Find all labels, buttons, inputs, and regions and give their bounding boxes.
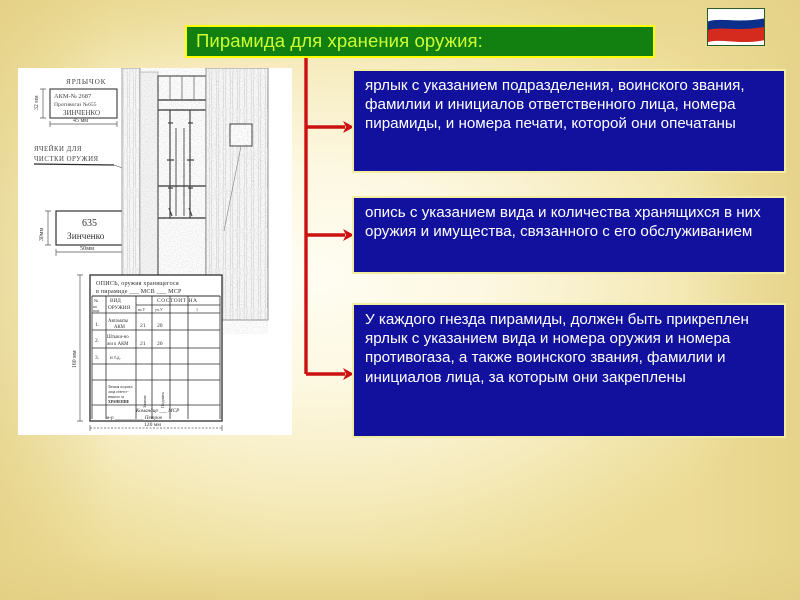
svg-text:венного за: венного за [108, 395, 124, 399]
svg-text:Зинченко: Зинченко [67, 232, 105, 242]
svg-text:160 мм: 160 мм [72, 350, 78, 368]
svg-text:21: 21 [140, 341, 146, 347]
svg-text:Командир ___ МСР: Командир ___ МСР [135, 407, 180, 414]
svg-text:лица ответст-: лица ответст- [108, 390, 130, 394]
svg-text:ОРУЖИЯ: ОРУЖИЯ [108, 305, 131, 311]
svg-text:уч.У: уч.У [155, 307, 163, 312]
svg-text:ЯРЛЫЧОК: ЯРЛЫЧОК [66, 78, 106, 86]
callout-nest-label-info: У каждого гнезда пирамиды, должен быть п… [352, 303, 786, 438]
svg-text:45 мм: 45 мм [73, 118, 88, 124]
svg-text:Звание: Звание [142, 395, 147, 408]
svg-text:ЯЧЕЙКИ ДЛЯ: ЯЧЕЙКИ ДЛЯ [34, 145, 82, 153]
svg-text:21: 21 [140, 323, 146, 329]
svg-text:3.: 3. [95, 355, 99, 361]
svg-text:пор.: пор. [93, 308, 100, 313]
svg-text:ЗИНЧЕНКО: ЗИНЧЕНКО [63, 109, 100, 117]
weapon-rack-diagram: ЯРЛЫЧОК АКМ-№ 2687 Противогаз №655 ЗИНЧЕ… [18, 68, 292, 435]
page-title-text: Пирамида для хранения оружия: [196, 32, 483, 51]
callout-3-text: У каждого гнезда пирамиды, должен быть п… [365, 310, 775, 387]
callout-inventory-info: опись с указанием вида и количества хран… [352, 196, 786, 274]
svg-text:20: 20 [157, 323, 163, 329]
callout-2-text: опись с указанием вида и количества хран… [365, 203, 775, 241]
svg-text:635: 635 [82, 218, 97, 229]
svg-text:30мм: 30мм [39, 228, 45, 241]
svg-text:ВИД: ВИД [110, 298, 121, 304]
svg-text:Противогаз №655: Противогаз №655 [54, 102, 97, 108]
svg-text:1.: 1. [95, 322, 99, 328]
svg-text:ХРАНЕНИЕ: ХРАНЕНИЕ [108, 400, 130, 404]
svg-text:Автоматы: Автоматы [108, 319, 129, 324]
svg-text:ЧИСТКИ ОРУЖИЯ: ЧИСТКИ ОРУЖИЯ [34, 156, 99, 163]
svg-text:50мм: 50мм [80, 245, 94, 252]
svg-text:м-р ___________ Петров: м-р ___________ Петров [105, 415, 163, 421]
svg-text:32 мм: 32 мм [34, 95, 40, 110]
svg-text:вз.У: вз.У [138, 307, 145, 312]
svg-text:1: 1 [196, 307, 198, 312]
slide-canvas: Пирамида для хранения оружия: [0, 0, 800, 600]
svg-text:2.: 2. [95, 338, 99, 344]
svg-text:120 мм: 120 мм [144, 422, 161, 428]
page-title: Пирамида для хранения оружия: [185, 25, 655, 58]
svg-text:Штыки-но: Штыки-но [107, 335, 129, 340]
svg-text:20: 20 [157, 341, 163, 347]
callout-1-text: ярлык с указанием подразделения, воинско… [365, 76, 775, 134]
svg-text:АКМ: АКМ [114, 325, 126, 330]
svg-text:Личная подпись: Личная подпись [108, 385, 133, 389]
svg-text:и т.д.: и т.д. [110, 356, 121, 361]
svg-text:СОСТОИТ НА: СОСТОИТ НА [157, 298, 198, 304]
svg-text:в пирамиде ___ МСВ ___ МСР: в пирамиде ___ МСВ ___ МСР [96, 289, 182, 295]
svg-text:жи к АКМ: жи к АКМ [106, 342, 129, 347]
svg-text:Подпись: Подпись [160, 392, 165, 408]
callout-label-info: ярлык с указанием подразделения, воинско… [352, 69, 786, 173]
svg-text:№: № [94, 298, 98, 303]
svg-text:АКМ-№ 2687: АКМ-№ 2687 [54, 93, 92, 100]
russian-flag-icon [707, 8, 765, 46]
svg-text:ОПИСЬ, оружия хранящегося: ОПИСЬ, оружия хранящегося [96, 281, 179, 287]
